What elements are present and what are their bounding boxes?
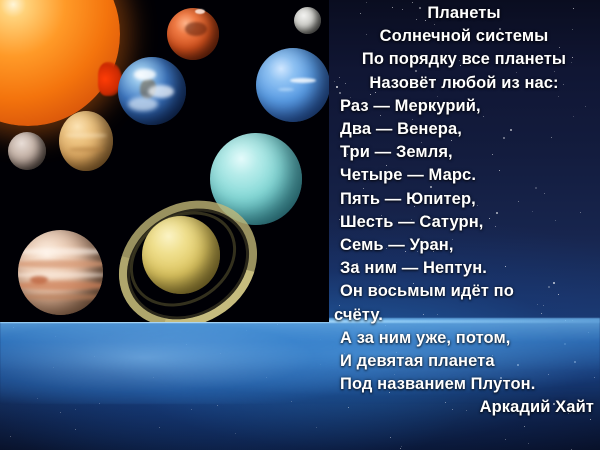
star [60,412,61,413]
earth-cloud-2 [148,85,174,98]
solar-system-photo [0,0,329,322]
poem-line: Под названием Плутон. [330,373,598,396]
venus-body [59,111,113,171]
mercury-body [8,132,46,170]
poem-line: Он восьмым идёт по [330,280,598,303]
saturn-group [112,180,247,322]
poem-line: И девятая планета [330,350,598,373]
poem-line: Два — Венера, [330,118,598,141]
star [401,446,402,447]
star [505,439,506,440]
poem-line: Назовёт любой из нас: [330,72,598,95]
poem-line: Пять — Юпитер, [330,188,598,211]
poem-title-line-2: Солнечной системы [330,25,598,48]
jupiter-band-1 [18,248,103,255]
mars-surface-marking [185,22,207,36]
pluto-body [294,7,321,34]
poem-body: По порядку все планетыНазовёт любой из н… [330,48,598,396]
poem-line: Раз — Меркурий, [330,95,598,118]
star [191,409,192,410]
star [217,405,218,406]
star [10,436,11,437]
poem-title-line-1: Планеты [330,2,598,25]
poem-line: За ним — Нептун. [330,257,598,280]
poem-line: А за ним уже, потом, [330,327,598,350]
earth-cloud-3 [128,97,158,111]
star [316,427,317,428]
jupiter-band-2 [18,260,103,268]
poem-line: По порядку все планеты [330,48,598,71]
earth-body [118,57,186,125]
star [524,426,525,427]
neptune-cloud-streak [290,78,316,83]
venus-band-2 [69,147,105,152]
jupiter-body [18,230,103,315]
star [75,409,76,410]
neptune-cloud-streak-2 [278,88,294,91]
mars-body [167,8,219,60]
earth-cloud-1 [134,69,156,80]
poem-line: Четыре — Марс. [330,164,598,187]
mars-polar-cap [195,9,205,14]
star [528,443,529,444]
star [235,433,236,434]
star [390,437,391,438]
poem-author: Аркадий Хайт [330,396,598,419]
venus-band-1 [65,133,107,138]
poem-line: счёту. [330,304,598,327]
slide: Планеты Солнечной системы По порядку все… [0,0,600,450]
poem-line: Шесть — Сатурн, [330,211,598,234]
star [75,429,76,430]
poem-block: Планеты Солнечной системы По порядку все… [330,2,598,420]
poem-line: Семь — Уран, [330,234,598,257]
star [159,427,160,428]
star [400,448,401,449]
neptune-body [256,48,329,122]
jupiter-band-5 [18,294,103,300]
jupiter-great-red-spot [30,276,48,284]
poem-line: Три — Земля, [330,141,598,164]
